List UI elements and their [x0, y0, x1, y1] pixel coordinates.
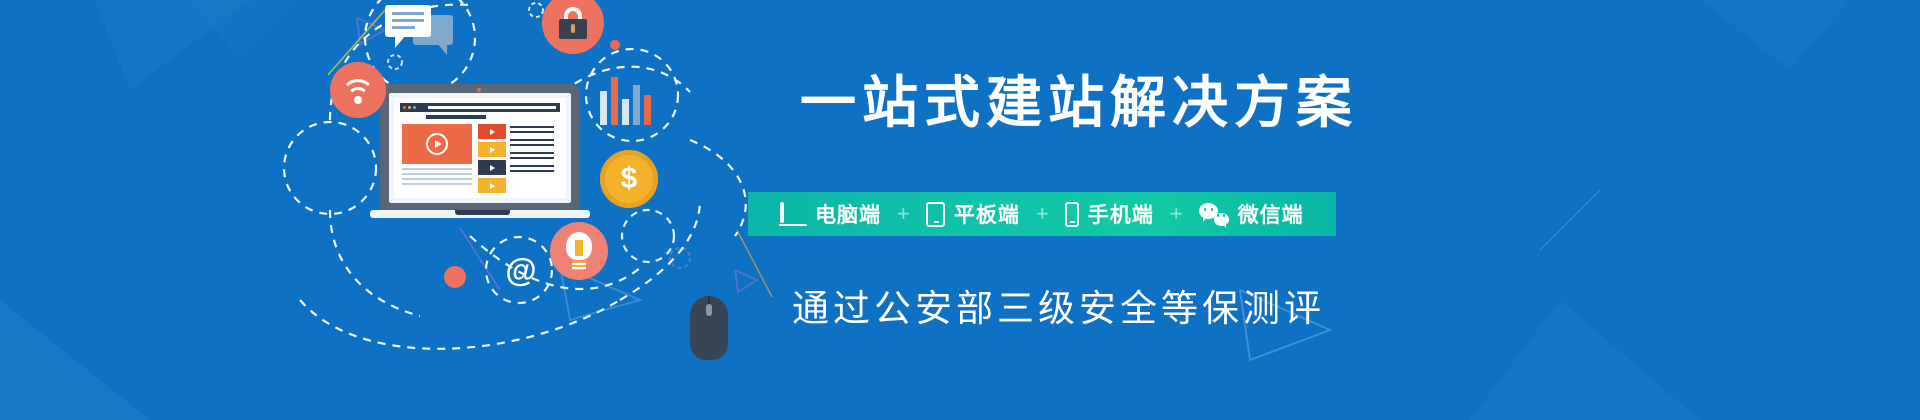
chat-bubbles-icon: [385, 5, 455, 57]
lightbulb-icon: [550, 222, 608, 280]
mouse-icon: [690, 296, 728, 360]
platform-item-phone[interactable]: 手机端: [1051, 199, 1168, 229]
page-title: 一站式建站解决方案: [800, 58, 1358, 139]
platform-label-wechat: 微信端: [1238, 199, 1304, 229]
laptop-camera-dot: [477, 88, 481, 92]
wechat-icon: [1199, 202, 1229, 226]
phone-icon: [1065, 202, 1079, 227]
platform-label-tablet: 平板端: [954, 199, 1020, 229]
video-thumbnail-list: [478, 124, 506, 196]
bar-chart-icon: [600, 70, 660, 125]
wifi-icon: [330, 62, 386, 118]
platform-label-phone: 手机端: [1088, 199, 1154, 229]
coin-dollar-glyph: $: [621, 164, 638, 194]
platform-item-tablet[interactable]: 平板端: [912, 199, 1034, 229]
coin-dollar-icon: $: [600, 150, 658, 208]
platform-item-desktop[interactable]: 电脑端: [766, 199, 895, 229]
browser-mockup: [394, 98, 566, 198]
plus-separator-2: +: [1034, 201, 1051, 227]
banner-content: 一站式建站解决方案 电脑端 + 平板端 + 手机端 +: [760, 0, 1920, 420]
tablet-icon: [926, 202, 945, 227]
certification-text: 通过公安部三级安全等保测评: [792, 278, 1325, 332]
at-sign-icon: @: [503, 252, 539, 288]
platform-item-wechat[interactable]: 微信端: [1185, 199, 1318, 229]
promo-banner: $ @ 一站式建站解决方案 电脑端 +: [0, 0, 1920, 420]
plus-separator-3: +: [1168, 201, 1185, 227]
hero-video-thumbnail: [402, 124, 472, 164]
monitor-icon: [780, 204, 806, 224]
website-building-illustration: $ @: [300, 0, 780, 420]
at-sign-glyph: @: [505, 254, 536, 286]
platform-pill: 电脑端 + 平板端 + 手机端 +: [748, 192, 1336, 236]
plus-separator-1: +: [895, 201, 912, 227]
platform-label-desktop: 电脑端: [815, 199, 881, 229]
lock-icon: [542, 0, 604, 54]
laptop-icon: [380, 84, 600, 224]
